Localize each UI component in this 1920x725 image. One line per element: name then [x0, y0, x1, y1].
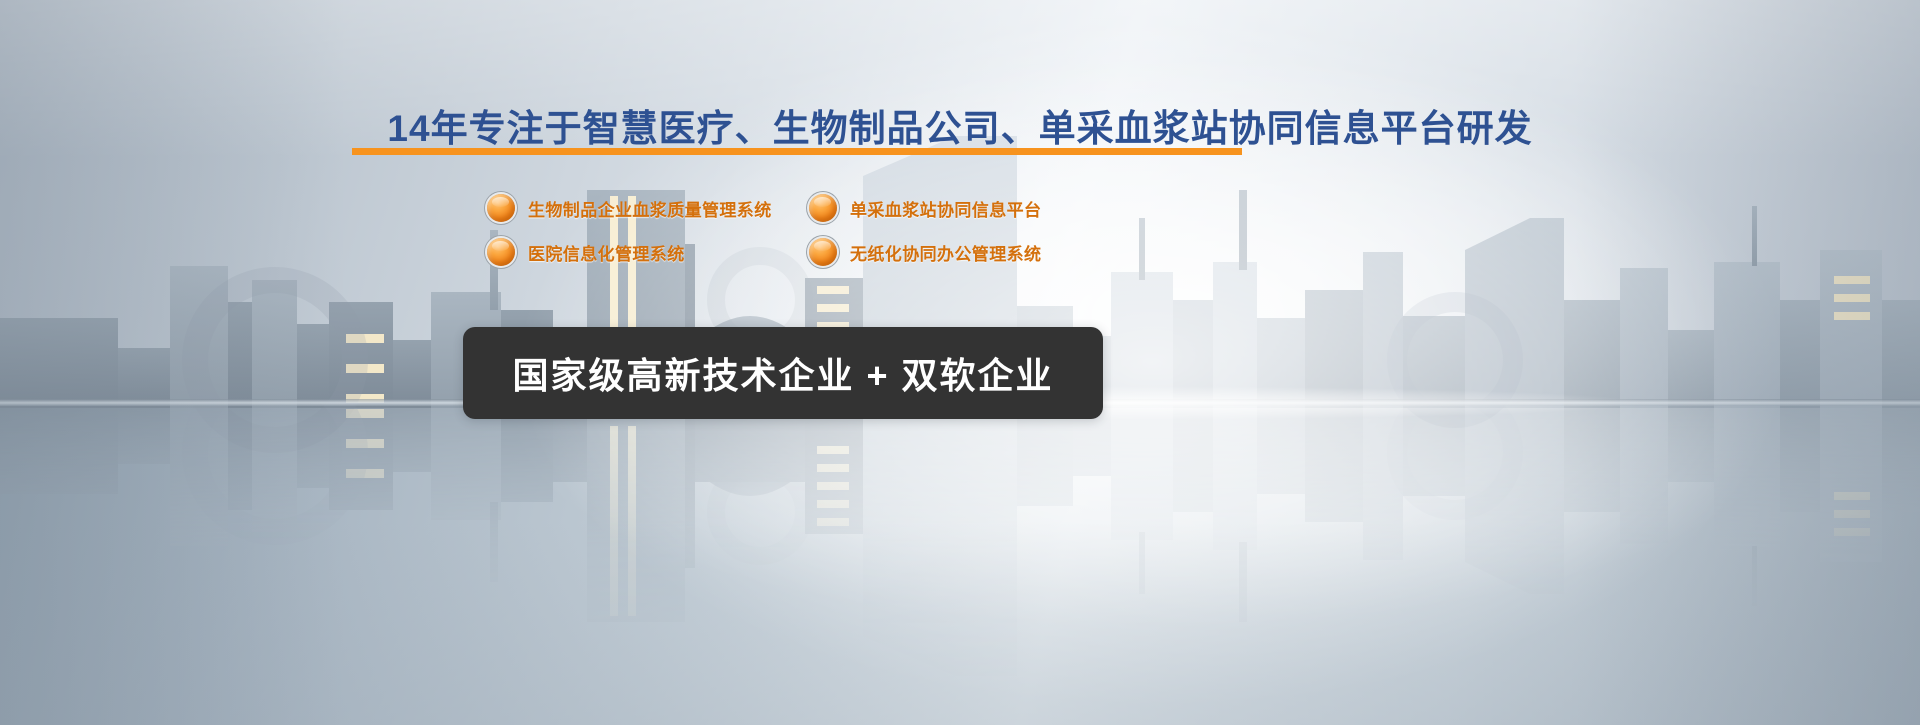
headline-container: 14年专注于智慧医疗、生物制品公司、单采血浆站协同信息平台研发 [0, 106, 1920, 152]
feature-label: 医院信息化管理系统 [528, 240, 685, 265]
feature-item-plasma-quality[interactable]: 生物制品企业血浆质量管理系统 [487, 194, 809, 222]
orange-sphere-bullet-icon [809, 194, 837, 222]
feature-label: 单采血浆站协同信息平台 [850, 196, 1041, 221]
orange-sphere-bullet-icon [487, 238, 515, 266]
orange-sphere-bullet-icon [487, 194, 515, 222]
hero-banner: 14年专注于智慧医疗、生物制品公司、单采血浆站协同信息平台研发 生物制品企业血浆… [0, 0, 1920, 725]
orange-sphere-bullet-icon [809, 238, 837, 266]
feature-row: 生物制品企业血浆质量管理系统 单采血浆站协同信息平台 [487, 186, 1187, 230]
feature-label: 无纸化协同办公管理系统 [850, 240, 1041, 265]
feature-list: 生物制品企业血浆质量管理系统 单采血浆站协同信息平台 医院信息化管理系统 无纸化… [487, 186, 1187, 274]
page-title: 14年专注于智慧医疗、生物制品公司、单采血浆站协同信息平台研发 [387, 106, 1532, 152]
feature-label: 生物制品企业血浆质量管理系统 [528, 196, 772, 221]
feature-row: 医院信息化管理系统 无纸化协同办公管理系统 [487, 230, 1187, 274]
tagline-badge: 国家级高新技术企业 + 双软企业 [463, 327, 1103, 419]
headline-underline-rule [352, 148, 1242, 155]
feature-item-paperless-office[interactable]: 无纸化协同办公管理系统 [809, 238, 1169, 266]
feature-item-plasma-station-platform[interactable]: 单采血浆站协同信息平台 [809, 194, 1169, 222]
banner-content: 14年专注于智慧医疗、生物制品公司、单采血浆站协同信息平台研发 生物制品企业血浆… [0, 0, 1920, 725]
feature-item-hospital-information[interactable]: 医院信息化管理系统 [487, 238, 809, 266]
tagline-text: 国家级高新技术企业 + 双软企业 [512, 347, 1053, 399]
